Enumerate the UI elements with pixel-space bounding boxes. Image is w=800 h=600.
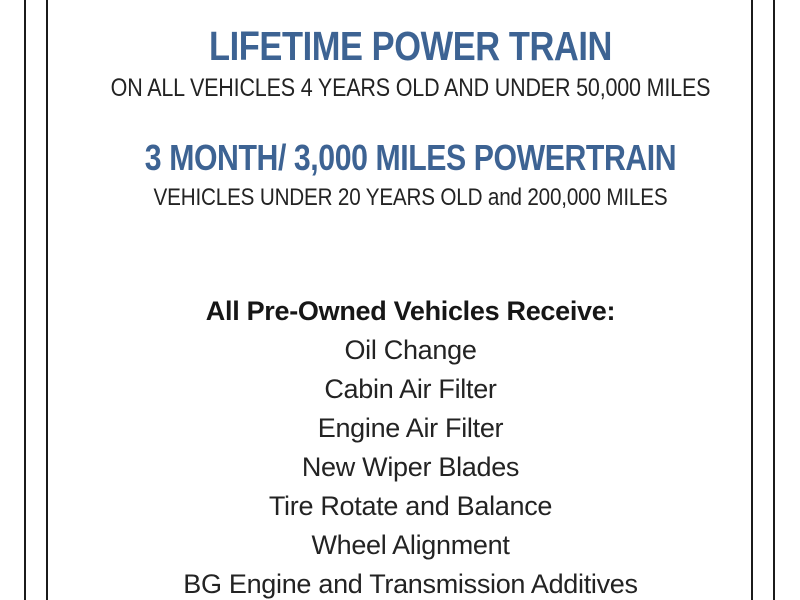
warranty-headline-3month: 3 MONTH/ 3,000 MILES POWERTRAIN <box>106 140 715 176</box>
warranty-offer-3month: 3 MONTH/ 3,000 MILES POWERTRAIN VEHICLES… <box>48 140 773 210</box>
service-item: New Wiper Blades <box>48 454 773 481</box>
services-title: All Pre-Owned Vehicles Receive: <box>48 298 773 325</box>
warranty-headline-lifetime: LIFETIME POWER TRAIN <box>106 26 715 67</box>
services-section: All Pre-Owned Vehicles Receive: Oil Chan… <box>48 298 773 598</box>
warranty-offer-lifetime: LIFETIME POWER TRAIN ON ALL VEHICLES 4 Y… <box>48 26 773 101</box>
service-item: Cabin Air Filter <box>48 376 773 403</box>
service-item: Engine Air Filter <box>48 415 773 442</box>
warranty-subline-lifetime: ON ALL VEHICLES 4 YEARS OLD AND UNDER 50… <box>99 75 723 101</box>
warranty-flyer: LIFETIME POWER TRAIN ON ALL VEHICLES 4 Y… <box>0 0 800 600</box>
frame-rule-right-outer <box>773 0 775 600</box>
warranty-subline-3month: VEHICLES UNDER 20 YEARS OLD and 200,000 … <box>99 185 723 210</box>
frame-rule-left-outer <box>24 0 26 600</box>
service-item: Oil Change <box>48 337 773 364</box>
service-item: Wheel Alignment <box>48 532 773 559</box>
service-item: BG Engine and Transmission Additives <box>48 571 773 598</box>
flyer-content: LIFETIME POWER TRAIN ON ALL VEHICLES 4 Y… <box>48 0 773 600</box>
service-item: Tire Rotate and Balance <box>48 493 773 520</box>
